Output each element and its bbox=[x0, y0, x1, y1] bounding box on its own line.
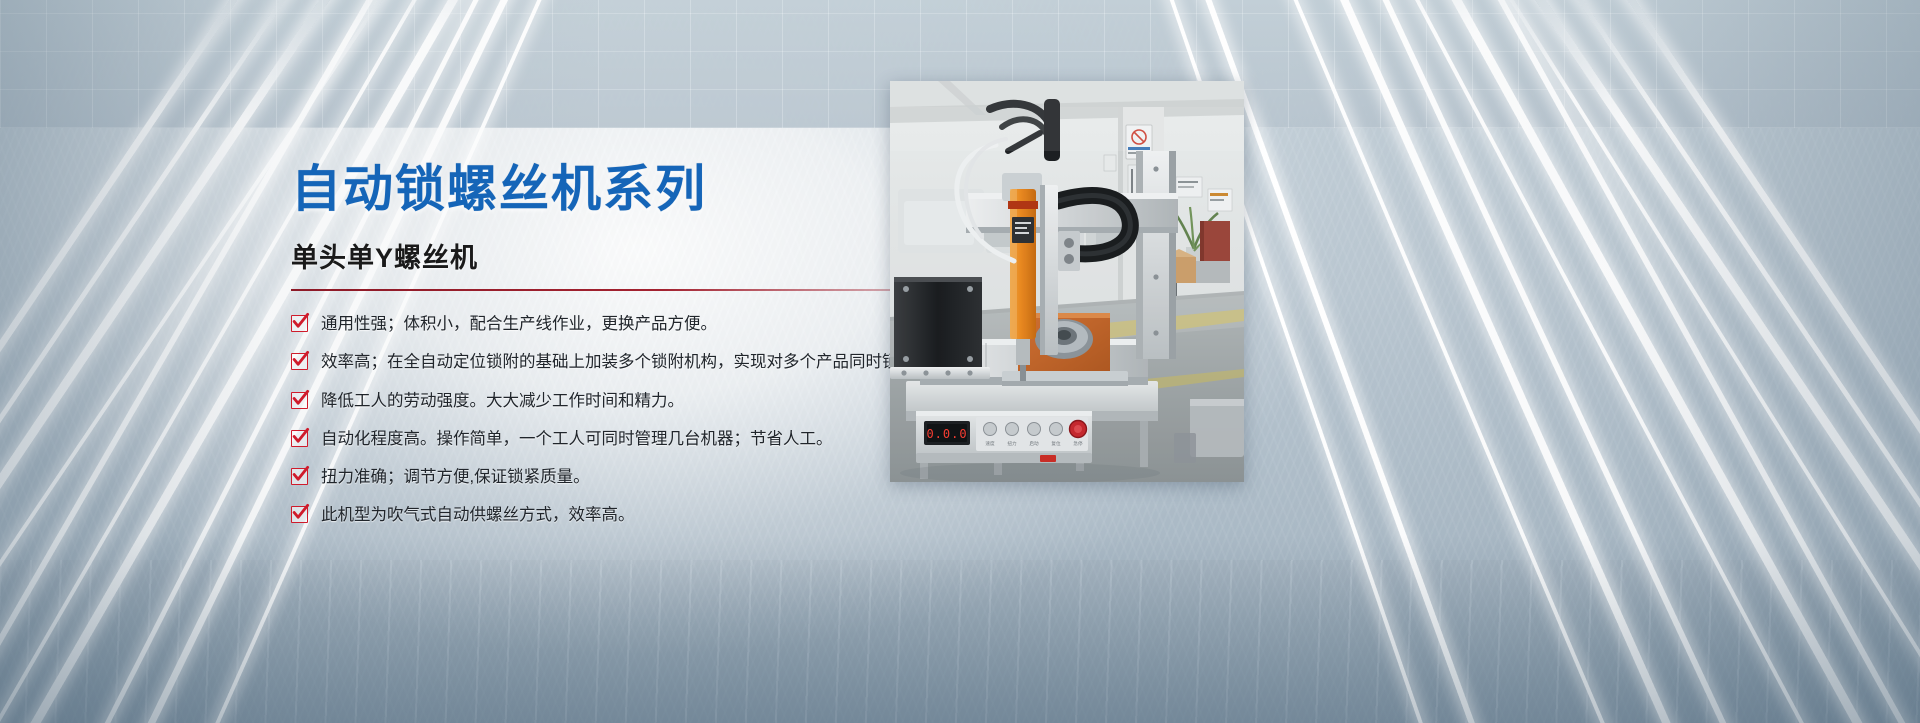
feature-text: 效率高；在全自动定位锁附的基础上加装多个锁附机构，实现对多个产品同时锁附。 bbox=[321, 351, 932, 373]
feature-text: 此机型为吹气式自动供螺丝方式，效率高。 bbox=[321, 504, 635, 526]
light-streak bbox=[1340, 0, 1888, 723]
light-streak bbox=[0, 0, 302, 723]
feature-text: 降低工人的劳动强度。大大减少工作时间和精力。 bbox=[321, 390, 684, 412]
page-subtitle: 单头单Y螺丝机 bbox=[291, 236, 991, 275]
light-streak bbox=[1382, 0, 1920, 723]
light-streak bbox=[1519, 0, 1920, 723]
light-streak bbox=[1476, 0, 1920, 723]
check-icon bbox=[291, 353, 308, 370]
light-streak bbox=[1561, 0, 1920, 723]
check-icon bbox=[291, 392, 308, 409]
light-streak bbox=[1293, 0, 1806, 723]
feature-list: 通用性强；体积小，配合生产线作业，更换产品方便。 效率高；在全自动定位锁附的基础… bbox=[291, 313, 991, 527]
check-icon bbox=[291, 468, 308, 485]
list-item: 扭力准确；调节方便,保证锁紧质量。 bbox=[291, 466, 991, 488]
list-item: 此机型为吹气式自动供螺丝方式，效率高。 bbox=[291, 504, 991, 526]
page-title: 自动锁螺丝机系列 bbox=[291, 160, 991, 218]
feature-text: 自动化程度高。操作简单，一个工人可同时管理几台机器；节省人工。 bbox=[321, 428, 833, 450]
feature-text: 扭力准确；调节方便,保证锁紧质量。 bbox=[321, 466, 590, 488]
title-divider bbox=[291, 289, 966, 291]
light-streak bbox=[1428, 0, 1920, 723]
list-item: 通用性强；体积小，配合生产线作业，更换产品方便。 bbox=[291, 313, 991, 335]
check-icon bbox=[291, 315, 308, 332]
check-icon bbox=[291, 430, 308, 447]
check-icon bbox=[291, 506, 308, 523]
banner-copy: 自动锁螺丝机系列 单头单Y螺丝机 通用性强；体积小，配合生产线作业，更换产品方便… bbox=[291, 160, 991, 543]
light-streak bbox=[1611, 0, 1920, 723]
product-photo: 0.0.0 速度扭力 启动复位急停 bbox=[890, 81, 1244, 482]
banner-stage: 自动锁螺丝机系列 单头单Y螺丝机 通用性强；体积小，配合生产线作业，更换产品方便… bbox=[0, 0, 1920, 723]
list-item: 降低工人的劳动强度。大大减少工作时间和精力。 bbox=[291, 390, 991, 412]
floor-texture bbox=[0, 560, 1920, 723]
light-streak bbox=[0, 0, 254, 723]
list-item: 自动化程度高。操作简单，一个工人可同时管理几台机器；节省人工。 bbox=[291, 428, 991, 450]
list-item: 效率高；在全自动定位锁附的基础上加装多个锁附机构，实现对多个产品同时锁附。 bbox=[291, 351, 991, 373]
light-streak bbox=[1204, 0, 1677, 723]
light-streak bbox=[1250, 0, 1745, 723]
feature-text: 通用性强；体积小，配合生产线作业，更换产品方便。 bbox=[321, 313, 717, 335]
